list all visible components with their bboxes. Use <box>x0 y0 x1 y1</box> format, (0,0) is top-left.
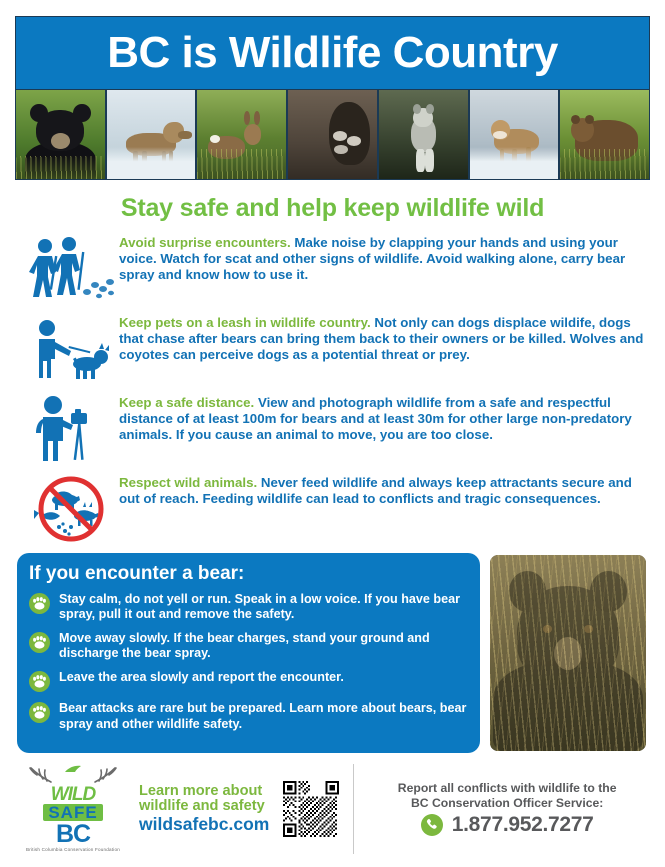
photographer-tripod-icon <box>23 393 119 465</box>
tip-lead: Keep pets on a leash in wildlife country… <box>119 315 371 330</box>
section-subtitle: Stay safe and help keep wildlife wild <box>15 194 650 223</box>
bear-bullet-item: Stay calm, do not yell or run. Speak in … <box>29 592 468 622</box>
tips-list: Avoid surprise encounters. Make noise by… <box>15 233 650 545</box>
hikers-with-paw-prints-icon <box>23 233 119 305</box>
poster: BC is Wildlife Country <box>0 0 665 867</box>
animal-photo-strip <box>15 90 650 180</box>
logo-bc-text: BC <box>21 823 125 847</box>
photo-raccoons <box>288 90 377 179</box>
bear-encounter-section: If you encounter a bear: Stay calm, do n… <box>15 553 650 753</box>
tip-lead: Avoid surprise encounters. <box>119 235 291 250</box>
paw-print-icon <box>29 593 50 614</box>
logo-subtitle: British Columbia Conservation Foundation <box>21 847 125 852</box>
paw-print-icon <box>29 632 50 653</box>
footer-divider <box>353 764 354 855</box>
tip-keep-safe-distance: Keep a safe distance. View and photograp… <box>23 393 646 465</box>
logo-safe-text: SAFE <box>43 804 102 821</box>
photo-grizzly-bear <box>560 90 649 179</box>
bear-bullet-text: Bear attacks are rare but be prepared. L… <box>59 701 468 731</box>
photo-cougar <box>470 90 559 179</box>
phone-icon <box>421 814 443 836</box>
bear-encounter-title: If you encounter a bear: <box>29 563 468 585</box>
learn-more-line-1: Learn more about <box>139 784 269 799</box>
bear-encounter-box: If you encounter a bear: Stay calm, do n… <box>17 553 480 753</box>
report-line-1: Report all conflicts with wildlife to th… <box>368 781 646 795</box>
header-banner: BC is Wildlife Country <box>15 16 650 90</box>
tip-text: Keep a safe distance. View and photograp… <box>119 393 646 442</box>
photo-black-bear <box>16 90 105 179</box>
paw-print-icon <box>29 671 50 692</box>
report-conflicts-block: Report all conflicts with wildlife to th… <box>368 781 646 836</box>
tip-lead: Keep a safe distance. <box>119 395 254 410</box>
phone-row: 1.877.952.7277 <box>368 813 646 837</box>
bear-bullet-text: Move away slowly. If the bear charges, s… <box>59 631 468 661</box>
photo-mule-deer <box>197 90 286 179</box>
learn-more-block: Learn more about wildlife and safety wil… <box>139 784 269 835</box>
tip-lead: Respect wild animals. <box>119 475 257 490</box>
page-title: BC is Wildlife Country <box>107 31 558 75</box>
wildsafebc-logo: WILD SAFE BC British Columbia Conservati… <box>19 762 127 857</box>
photo-wolf <box>379 90 468 179</box>
tip-respect-wild-animals: Respect wild animals. Never feed wildlif… <box>23 473 646 545</box>
footer: WILD SAFE BC British Columbia Conservati… <box>15 762 650 857</box>
paw-print-icon <box>29 702 50 723</box>
tip-text: Avoid surprise encounters. Make noise by… <box>119 233 646 282</box>
black-bear-in-grass-photo <box>488 553 648 753</box>
photo-coyote <box>107 90 196 179</box>
website-link[interactable]: wildsafebc.com <box>139 814 269 834</box>
bear-bullet-item: Bear attacks are rare but be prepared. L… <box>29 701 468 731</box>
no-feeding-wildlife-icon <box>23 473 119 545</box>
phone-number[interactable]: 1.877.952.7277 <box>452 813 594 837</box>
report-line-2: BC Conservation Officer Service: <box>368 796 646 810</box>
person-walking-dog-icon <box>23 313 119 385</box>
tip-text: Keep pets on a leash in wildlife country… <box>119 313 646 362</box>
bear-bullet-text: Leave the area slowly and report the enc… <box>59 670 344 685</box>
tip-avoid-surprise-encounters: Avoid surprise encounters. Make noise by… <box>23 233 646 305</box>
bear-bullet-item: Move away slowly. If the bear charges, s… <box>29 631 468 661</box>
qr-code[interactable] <box>283 781 339 837</box>
bear-bullet-item: Leave the area slowly and report the enc… <box>29 670 468 692</box>
tip-keep-pets-on-leash: Keep pets on a leash in wildlife country… <box>23 313 646 385</box>
tip-text: Respect wild animals. Never feed wildlif… <box>119 473 646 507</box>
bear-bullet-text: Stay calm, do not yell or run. Speak in … <box>59 592 468 622</box>
learn-more-line-2: wildlife and safety <box>139 799 269 814</box>
logo-wild-text: WILD <box>21 786 125 804</box>
